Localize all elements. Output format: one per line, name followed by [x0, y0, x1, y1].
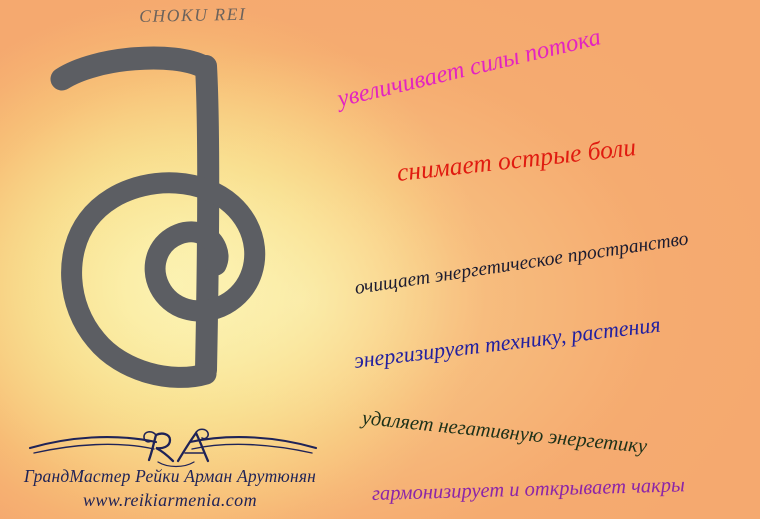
symbol-spiral [72, 183, 255, 378]
symbol-top-stroke [62, 58, 204, 79]
footer-block: ГрандМастер Рейки Арман Арутюнян www.rei… [0, 428, 340, 519]
reiki-poster: CHOKU REI увеличивает силы потока снимае… [0, 0, 760, 519]
cho-ku-rei-symbol [36, 40, 346, 440]
decorative-flourish-with-monogram [28, 428, 318, 470]
page-title: CHOKU REI [139, 4, 247, 27]
website-url[interactable]: www.reikiarmenia.com [0, 490, 340, 511]
symbol-vertical-stroke [206, 66, 208, 370]
grandmaster-signature: ГрандМастер Рейки Арман Арутюнян [0, 466, 340, 487]
